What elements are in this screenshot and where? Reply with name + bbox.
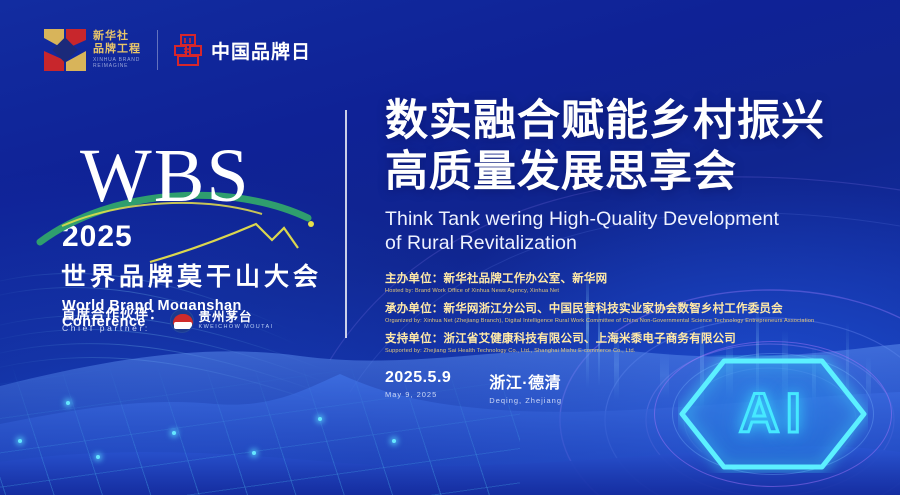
xinhua-logo-text: 新华社 品牌工程 XINHUA BRAND REIMAGINE — [93, 31, 141, 69]
xinhua-cn-line1: 新华社 — [93, 31, 141, 42]
main-title-cn-line2: 高质量发展思享会 — [385, 147, 855, 198]
china-brand-day-seal-icon — [174, 34, 202, 66]
event-date-cn: 2025.5.9 — [385, 369, 451, 387]
header-divider — [157, 30, 158, 70]
event-location: 浙江·德清 Deqing, Zhejiang — [489, 369, 562, 405]
ai-badge-label: AI — [678, 385, 868, 441]
chief-partner-label-en: Chief partner: — [62, 324, 164, 333]
main-title-en-line2: of Rural Revitalization — [385, 231, 855, 255]
chief-partner-label: 首席合作伙伴： Chief partner: — [62, 308, 164, 333]
xinhua-en-line2: REIMAGINE — [93, 64, 141, 69]
conference-poster: 新华社 品牌工程 XINHUA BRAND REIMAGINE 中国品牌日 — [0, 0, 900, 495]
xinhua-brand-logo: 新华社 品牌工程 XINHUA BRAND REIMAGINE — [44, 29, 141, 71]
poster-header: 新华社 品牌工程 XINHUA BRAND REIMAGINE 中国品牌日 — [44, 26, 311, 74]
mesh-node — [392, 439, 396, 443]
wbs-conference-logo-block: WBS 2025 世界品牌莫干山大会 World Brand Moganshan… — [58, 138, 328, 330]
event-date-en: May 9, 2025 — [385, 390, 451, 399]
china-brand-day-logo: 中国品牌日 — [174, 34, 311, 66]
organizer-cn: 承办单位：新华网浙江分公司、中国民营科技实业家协会数智乡村工作委员会 — [385, 302, 855, 316]
moutai-logo: 贵州茅台 KWEICHOW MOUTAI — [170, 309, 274, 333]
vertical-divider — [345, 110, 347, 338]
organizer-row: 主办单位：新华社品牌工作办公室、新华网 Hosted by: Brand Wor… — [385, 272, 855, 295]
main-title-cn-line1: 数实融合赋能乡村振兴 — [385, 96, 855, 147]
main-title-en-line1: Think Tank wering High-Quality Developme… — [385, 207, 855, 231]
wbs-letters: WBS — [80, 138, 251, 214]
moutai-brand-en: KWEICHOW MOUTAI — [199, 325, 274, 331]
chief-partner-label-cn: 首席合作伙伴： — [62, 308, 164, 322]
chief-partner-row: 首席合作伙伴： Chief partner: 贵州茅台 KWEICHOW MOU… — [62, 308, 273, 333]
organizer-row: 承办单位：新华网浙江分公司、中国民营科技实业家协会数智乡村工作委员会 Organ… — [385, 302, 855, 325]
mesh-node — [318, 417, 322, 421]
mesh-node — [252, 451, 256, 455]
organizer-en: Hosted by: Brand Work Office of Xinhua N… — [385, 288, 855, 295]
mesh-node — [172, 431, 176, 435]
ai-hexagon-badge: AI — [678, 355, 868, 473]
china-brand-day-label: 中国品牌日 — [211, 37, 311, 64]
moutai-brand-cn: 贵州茅台 — [199, 311, 274, 324]
organizer-en: Organized by: Xinhua Net (Zhejiang Branc… — [385, 318, 855, 325]
event-location-en: Deqing, Zhejiang — [489, 396, 562, 405]
xinhua-brand-x-mark-icon — [44, 29, 86, 71]
organizer-cn: 主办单位：新华社品牌工作办公室、新华网 — [385, 272, 855, 286]
event-location-cn: 浙江·德清 — [489, 369, 562, 393]
moutai-badge-icon — [170, 309, 194, 333]
xinhua-cn-line2: 品牌工程 — [93, 44, 141, 55]
wbs-logo: WBS — [58, 138, 328, 224]
mesh-node — [66, 401, 70, 405]
event-date: 2025.5.9 May 9, 2025 — [385, 369, 451, 405]
mesh-node — [18, 439, 22, 443]
mesh-node — [96, 455, 100, 459]
moutai-logo-text: 贵州茅台 KWEICHOW MOUTAI — [199, 311, 274, 331]
